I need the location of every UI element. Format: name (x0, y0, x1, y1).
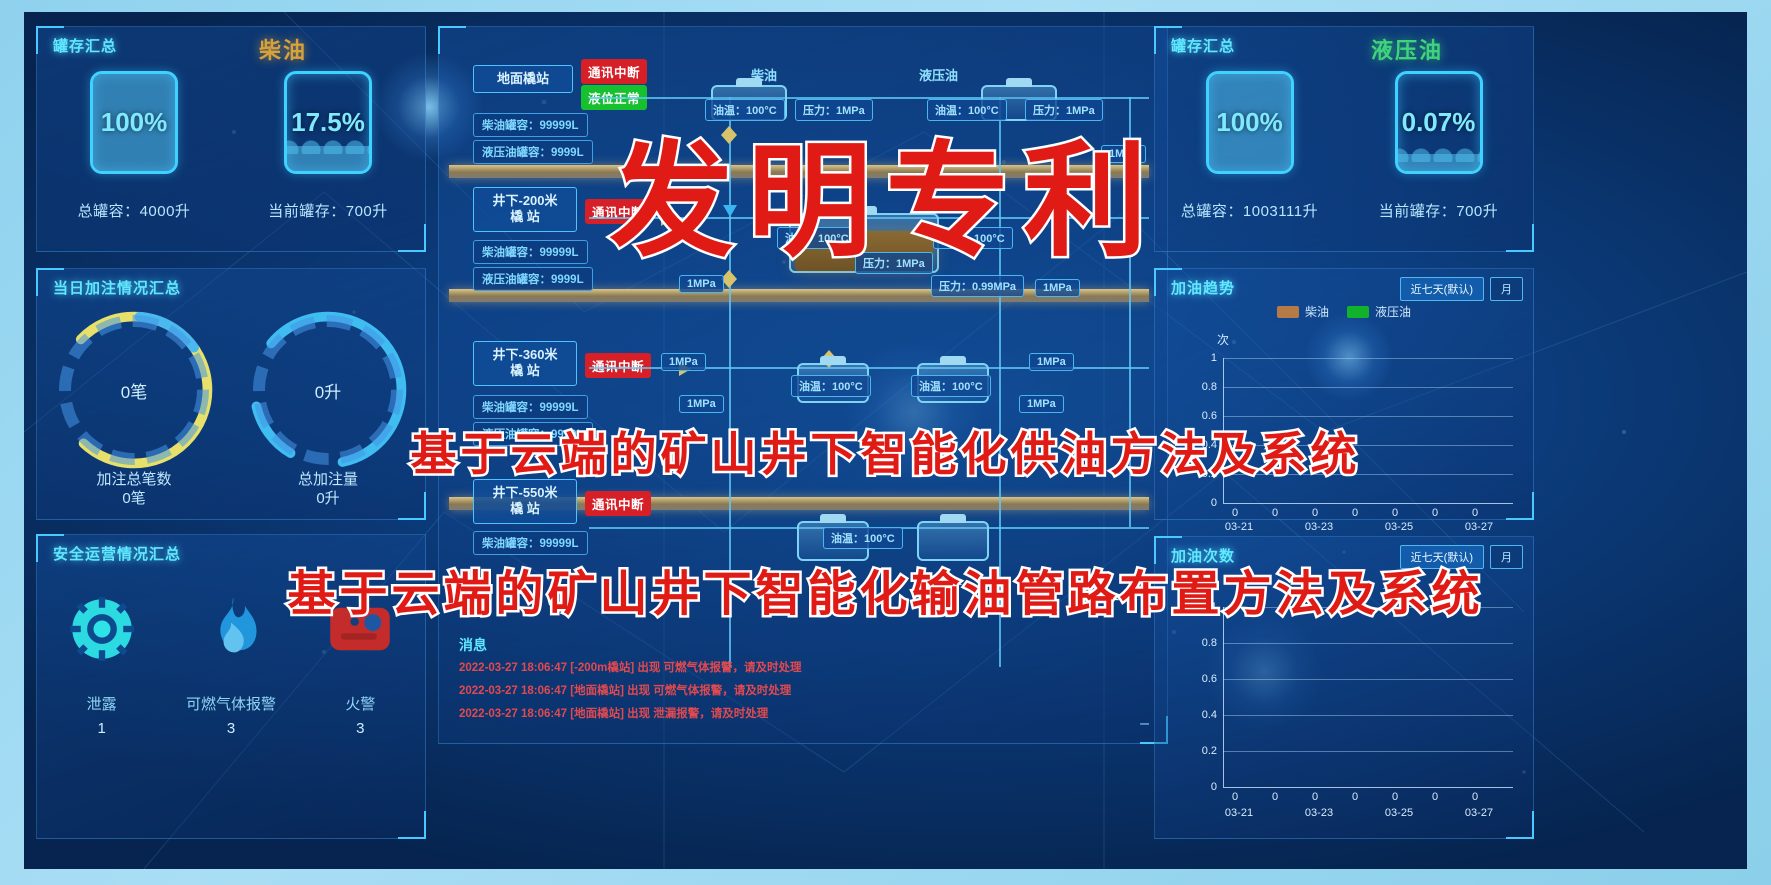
tank-graphic: 100% (1206, 71, 1294, 174)
gauge-value: 0笔 (59, 315, 209, 465)
tank-caption: 当前罐存：700升 (1379, 200, 1499, 221)
tank-graphic: 17.5% (284, 71, 372, 174)
station-cap-hydraulic: 液压油罐容：9999L (473, 140, 593, 164)
x-tick: 03-23 (1305, 521, 1333, 533)
data-point-label: 0 (1232, 791, 1238, 803)
x-tick: 03-27 (1465, 807, 1493, 819)
flow-arrow-icon (661, 212, 673, 226)
tank-caption: 当前罐存：700升 (268, 200, 388, 221)
sensor-tag-temp: 油温：100°C (933, 227, 1013, 249)
leak-gear-icon (64, 595, 140, 663)
tank-graphic: 0.07% (1395, 71, 1483, 174)
total-capacity-tank: 100% 总罐容：4000升 (37, 71, 231, 221)
message-log-line: 2022-03-27 18:06:47 [地面橇站] 出现 可燃气体报警，请及时… (459, 682, 791, 698)
data-point-label: 0 (1232, 507, 1238, 519)
x-tick: 03-25 (1385, 521, 1413, 533)
tank-percent: 17.5% (287, 74, 369, 171)
oil-type-label: 液压油 (1371, 33, 1443, 65)
x-tick: 03-21 (1225, 807, 1253, 819)
safety-value: 3 (227, 720, 235, 737)
legend-swatch (1347, 306, 1369, 318)
station-cap-hydraulic: 液压油罐容：9999L (473, 267, 593, 291)
panel-title: 安全运营情况汇总 (53, 543, 181, 564)
pressure-pill: 1MPa (1035, 279, 1080, 297)
legend-label: 液压油 (1375, 303, 1411, 320)
safety-summary-panel: 安全运营情况汇总 泄露 1 (36, 534, 426, 839)
sensor-tag-temp: 油温：100°C (911, 375, 991, 397)
station-cap-hydraulic: 液压油罐容：9999L (473, 422, 593, 446)
range-selector[interactable]: 近七天(默认) 月 (1400, 277, 1523, 301)
data-point-label: 0 (1352, 791, 1358, 803)
current-stock-tank: 17.5% 当前罐存：700升 (231, 71, 425, 221)
gauge-caption: 总加注量 0升 (231, 471, 425, 509)
legend-item-hydraulic: 液压油 (1347, 303, 1411, 320)
vessel-hydraulic-550m (917, 521, 989, 561)
collapse-icon[interactable]: – (1140, 715, 1149, 733)
x-tick: 03-23 (1305, 807, 1333, 819)
flow-arrow-icon (723, 205, 737, 217)
data-point-label: 0 (1392, 791, 1398, 803)
dashboard-screen: 罐存汇总 柴油 100% 总罐容：4000升 17.5% 当前罐存：700升 当… (24, 12, 1747, 869)
station-label-550m[interactable]: 井下-550米 橇 站 (473, 479, 577, 524)
panel-title: 加油次数 (1171, 545, 1235, 566)
sensor-tag-pressure: 压力：0.99MPa (931, 275, 1024, 297)
gas-flame-icon (193, 595, 269, 663)
data-point-label: 0 (1312, 507, 1318, 519)
refuel-volume-gauge: 0升 总加注量 0升 (231, 315, 425, 509)
legend-item-diesel: 柴油 (1277, 303, 1329, 320)
x-tick: 03-21 (1225, 521, 1253, 533)
station-cap-diesel: 柴油罐容：99999L (473, 240, 588, 264)
tank-caption: 总罐容：1003111升 (1181, 200, 1318, 221)
total-capacity-tank: 100% 总罐容：1003111升 (1155, 71, 1344, 221)
status-badge-comm: 通讯中断 (581, 59, 647, 84)
y-tick: 0.2 (1191, 468, 1217, 480)
y-tick: 1 (1191, 601, 1217, 613)
sensor-tag-temp: 油温：100°C (777, 227, 857, 249)
sensor-tag-temp: 油温：100°C (705, 99, 785, 121)
range-option-week[interactable]: 近七天(默认) (1400, 545, 1484, 569)
tank-percent: 100% (1209, 74, 1291, 171)
pressure-pill: 1MPa (661, 353, 706, 371)
range-option-week[interactable]: 近七天(默认) (1400, 277, 1484, 301)
tank-percent: 100% (93, 74, 175, 171)
panel-title: 当日加注情况汇总 (53, 277, 181, 298)
daily-refuel-panel: 当日加注情况汇总 0笔 加注总笔数 0笔 (36, 268, 426, 520)
tank-percent: 0.07% (1398, 74, 1480, 171)
y-tick: 0.4 (1191, 709, 1217, 721)
chart-legend: 柴油 液压油 (1277, 303, 1411, 320)
pressure-pill: 1MPa (1029, 353, 1074, 371)
refuel-count-panel: 加油次数 近七天(默认) 月 1 0.8 0.6 0.4 0.2 0 0 0 0… (1154, 536, 1534, 839)
sensor-tag-temp: 油温：100°C (927, 99, 1007, 121)
data-point-label: 0 (1392, 507, 1398, 519)
message-log-line: 2022-03-27 18:06:47 [-200m橇站] 出现 可燃气体报警，… (459, 659, 802, 675)
data-point-label: 0 (1312, 791, 1318, 803)
safety-item-leak: 泄露 1 (37, 587, 166, 737)
sensor-tag-pressure: 压力：1MPa (795, 99, 873, 121)
safety-item-fire: 火警 3 (296, 587, 425, 737)
status-badge-comm: 通讯中断 (585, 199, 651, 224)
y-tick: 0.4 (1191, 439, 1217, 451)
fire-alarm-icon (322, 595, 398, 663)
mine-schematic-panel: 地面橇站 通讯中断 液位正常 柴油罐容：99999L 液压油罐容：9999L 井… (438, 26, 1168, 744)
sensor-tag-temp: 油温：100°C (823, 527, 903, 549)
data-point-label: 0 (1272, 791, 1278, 803)
station-cap-diesel: 柴油罐容：99999L (473, 531, 588, 555)
station-cap-diesel: 柴油罐容：99999L (473, 395, 588, 419)
y-tick: 0.8 (1191, 637, 1217, 649)
legend-label: 柴油 (1305, 303, 1329, 320)
status-badge-comm: 通讯中断 (585, 491, 651, 516)
safety-value: 1 (97, 720, 105, 737)
status-badge-comm: 通讯中断 (585, 353, 651, 378)
station-cap-diesel: 柴油罐容：99999L (473, 113, 588, 137)
sensor-tag-temp: 油温：100°C (791, 375, 871, 397)
tank-graphic: 100% (90, 71, 178, 174)
right-tank-summary-panel: 罐存汇总 液压油 100% 总罐容：1003111升 0.07% 当前罐存：70… (1154, 26, 1534, 252)
gauge-value: 0升 (253, 315, 403, 465)
outer-frame: 罐存汇总 柴油 100% 总罐容：4000升 17.5% 当前罐存：700升 当… (0, 0, 1771, 885)
data-point-label: 0 (1432, 507, 1438, 519)
panel-title: 罐存汇总 (1171, 35, 1235, 56)
pressure-pill: 1MPa (1019, 395, 1064, 413)
refuel-count-gauge: 0笔 加注总笔数 0笔 (37, 315, 231, 509)
message-log-title: 消息 (459, 635, 487, 655)
station-label-200m[interactable]: 井下-200米 橇 站 (473, 187, 577, 232)
range-selector[interactable]: 近七天(默认) 月 (1400, 545, 1523, 569)
safety-label: 泄露 (87, 693, 117, 714)
oil-type-label: 柴油 (259, 33, 307, 65)
current-stock-tank: 0.07% 当前罐存：700升 (1344, 71, 1533, 221)
y-tick: 0.8 (1191, 381, 1217, 393)
tank-caption: 总罐容：4000升 (78, 200, 191, 221)
legend-swatch (1277, 306, 1299, 318)
station-label-360m[interactable]: 井下-360米 橇 站 (473, 341, 577, 386)
x-tick: 03-25 (1385, 807, 1413, 819)
y-tick: 0.2 (1191, 745, 1217, 757)
data-point-label: 0 (1432, 791, 1438, 803)
data-point-label: 0 (1352, 507, 1358, 519)
safety-value: 3 (356, 720, 364, 737)
safety-label: 火警 (345, 693, 375, 714)
pressure-pill: 1MPa (1101, 145, 1146, 163)
message-log-line: 2022-03-27 18:06:47 [地面橇站] 出现 泄漏报警，请及时处理 (459, 705, 768, 721)
safety-label: 可燃气体报警 (186, 693, 276, 714)
data-point-label: 0 (1272, 507, 1278, 519)
data-point-label: 0 (1472, 791, 1478, 803)
y-tick: 0 (1191, 781, 1217, 793)
safety-item-gas: 可燃气体报警 3 (166, 587, 295, 737)
y-tick: 0 (1191, 497, 1217, 509)
y-tick: 0.6 (1191, 410, 1217, 422)
data-point-label: 0 (1472, 507, 1478, 519)
panel-title: 罐存汇总 (53, 35, 117, 56)
y-axis-unit: 次 (1217, 331, 1229, 348)
refuel-trend-panel: 加油趋势 近七天(默认) 月 柴油 液压油 次 1 0.8 0.6 0.4 0.… (1154, 268, 1534, 520)
pressure-pill: 1MPa (679, 275, 724, 293)
y-tick: 0.6 (1191, 673, 1217, 685)
pressure-pill: 1MPa (679, 395, 724, 413)
station-label-surface[interactable]: 地面橇站 (473, 65, 573, 93)
message-log: 消息 2022-03-27 18:06:47 [-200m橇站] 出现 可燃气体… (445, 627, 945, 737)
sensor-tag-pressure: 压力：1MPa (1025, 99, 1103, 121)
sensor-tag-pressure: 压力：1MPa (855, 252, 933, 274)
level-bar-surface (449, 165, 1149, 178)
x-tick: 03-27 (1465, 521, 1493, 533)
gauge-caption: 加注总笔数 0笔 (37, 471, 231, 509)
y-tick: 1 (1191, 352, 1217, 364)
panel-title: 加油趋势 (1171, 277, 1235, 298)
range-option-month[interactable]: 月 (1490, 277, 1523, 301)
column-header-hydraulic: 液压油 (919, 65, 958, 84)
range-option-month[interactable]: 月 (1490, 545, 1523, 569)
left-tank-summary-panel: 罐存汇总 柴油 100% 总罐容：4000升 17.5% 当前罐存：700升 (36, 26, 426, 252)
